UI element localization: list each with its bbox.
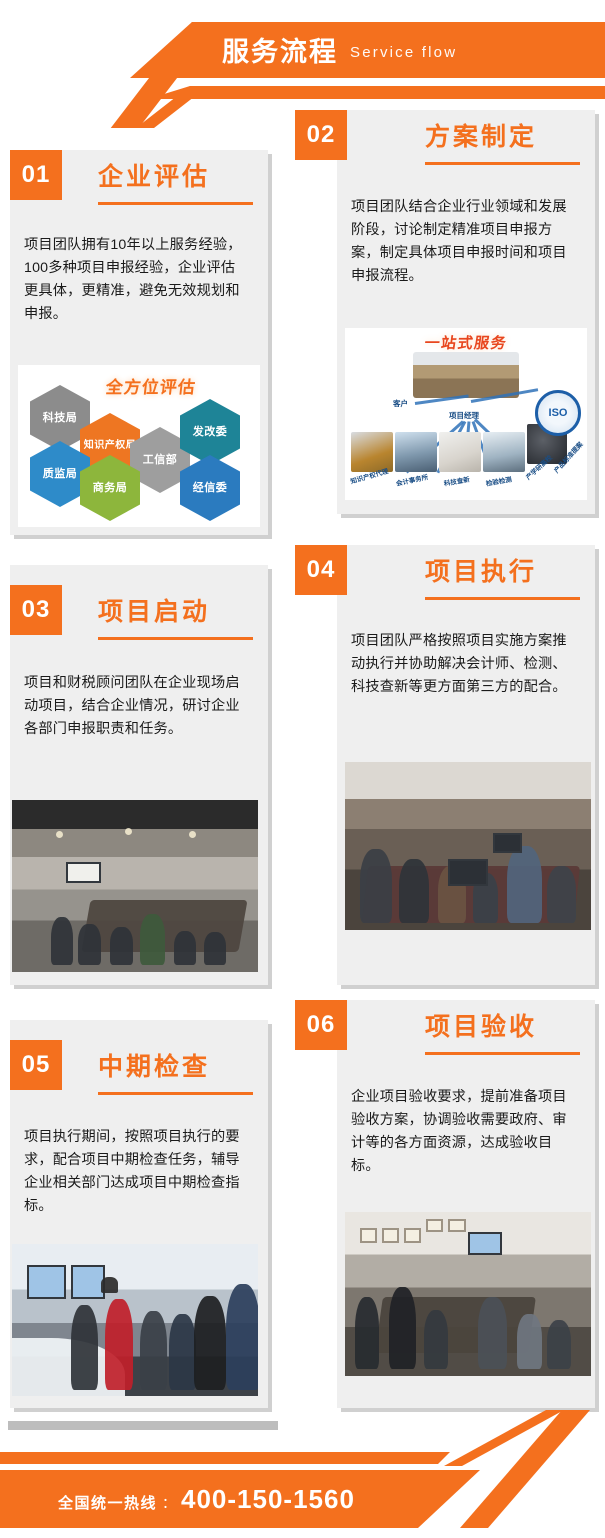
person — [140, 1311, 167, 1390]
person — [51, 917, 73, 965]
wall-certificate — [404, 1228, 421, 1243]
ceiling-light — [189, 831, 196, 838]
oss-thumb-accounting — [395, 432, 437, 472]
person — [399, 859, 429, 923]
laptop — [493, 833, 523, 853]
person — [547, 866, 577, 923]
card-photo-06 — [345, 1212, 591, 1376]
person — [389, 1287, 416, 1369]
card-title-05: 中期检查 — [98, 1055, 210, 1080]
display-screen — [27, 1265, 66, 1298]
person — [78, 924, 100, 965]
card-number-badge-01: 01 — [10, 150, 62, 200]
hexagon-label: 质监局 — [43, 468, 78, 481]
hexagon-label: 发改委 — [193, 426, 228, 439]
person — [355, 1297, 380, 1369]
card-number-badge-04: 04 — [295, 545, 347, 595]
hotline-group: 全国统一热线 ： 400-150-1560 — [58, 1484, 355, 1515]
card-photo-04 — [345, 762, 591, 930]
card-title-01: 企业评估 — [98, 165, 210, 190]
person — [169, 1314, 196, 1390]
card-body-02: 项目团队结合企业行业领域和发展阶段，讨论制定精准项目申报方案，制定具体项目申报时… — [351, 196, 573, 288]
card-number-badge-02: 02 — [295, 110, 347, 160]
page-title-cn: 服务流程 — [222, 39, 338, 66]
card-body-03: 项目和财税顾问团队在企业现场启动项目，结合企业情况，研讨企业各部门申报职责和任务… — [24, 672, 246, 741]
oss-center-photo — [413, 352, 519, 398]
card-title-rule-05 — [98, 1092, 253, 1095]
page-header: 服务流程 Service flow — [0, 0, 605, 128]
card-title-03: 项目启动 — [98, 600, 210, 625]
person — [517, 1314, 542, 1370]
footer-stripe — [0, 1452, 450, 1464]
hexagon-label: 科技局 — [43, 412, 78, 425]
person — [204, 932, 226, 965]
oss-label-accounting: 会计事务所 — [395, 471, 429, 488]
person — [140, 914, 165, 966]
hexagon-label: 知识产权局 — [84, 440, 137, 452]
person — [360, 849, 392, 923]
page-footer: 全国统一热线 ： 400-150-1560 — [0, 1410, 605, 1538]
card-number-badge-05: 05 — [10, 1040, 62, 1090]
one-stop-service-title: 一站式服务 — [345, 332, 587, 353]
page-title-en: Service flow — [350, 45, 457, 60]
oss-label-tech-search: 科技查新 — [443, 473, 470, 487]
whiteboard — [66, 862, 100, 883]
card-body-06: 企业项目验收要求，提前准备项目验收方案，协调验收需要政府、审计等的各方面资源，达… — [351, 1086, 573, 1178]
photo-content-04 — [345, 762, 591, 930]
person — [547, 1320, 572, 1369]
card-title-rule-06 — [425, 1052, 580, 1055]
person — [424, 1310, 449, 1369]
wall-certificate — [382, 1228, 399, 1243]
oss-node-customer: 客户 — [393, 398, 408, 409]
ceiling-light — [125, 828, 132, 835]
card-title-04: 项目执行 — [425, 560, 537, 585]
hexagon-diagram-01: 全方位评估 科技局 知识产权局 质监局 工信部 商务局 发改委 经信委 — [18, 365, 260, 527]
oss-label-inspection: 检验检测 — [485, 473, 512, 487]
wall-certificate — [426, 1219, 443, 1232]
hexagon-label: 经信委 — [193, 482, 228, 495]
hexagon-label: 商务局 — [93, 482, 128, 495]
card-photo-05 — [12, 1244, 258, 1396]
one-stop-service-diagram-02: 一站式服务 客户 项目经理 ISO 知识产权代理 会计事务所 科技查新 检验检测… — [345, 328, 587, 500]
person — [226, 1284, 258, 1390]
card-body-04: 项目团队严格按照项目实施方案推动执行并协助解决会计师、检测、科技查新等更方面第三… — [351, 630, 573, 699]
card-body-05: 项目执行期间，按照项目执行的要求，配合项目中期检查任务，辅导企业相关部门达成项目… — [24, 1126, 246, 1218]
person — [194, 1296, 226, 1390]
card-number-badge-03: 03 — [10, 585, 62, 635]
person — [110, 927, 132, 965]
hotline-colon: ： — [159, 1493, 179, 1513]
hexagon-diagram-title: 全方位评估 — [105, 373, 198, 398]
card-title-02: 方案制定 — [425, 125, 537, 150]
projector-screen — [468, 1232, 502, 1255]
person — [105, 1299, 132, 1390]
card-title-rule-01 — [98, 202, 253, 205]
photo-content-06 — [345, 1212, 591, 1376]
person — [101, 1277, 118, 1292]
oss-thumb-tech-search — [439, 432, 481, 472]
hotline-label: 全国统一热线 — [58, 1492, 157, 1513]
wall-certificate — [360, 1228, 377, 1243]
card-title-rule-04 — [425, 597, 580, 600]
oss-thumb-inspection — [483, 432, 525, 472]
ceiling-light — [56, 831, 63, 838]
infographic-page: 服务流程 Service flow 01 企业评估 项目团队拥有10年以上服务经… — [0, 0, 605, 1538]
hexagon-label: 工信部 — [143, 454, 178, 467]
person — [71, 1305, 98, 1390]
hotline-phone[interactable]: 400-150-1560 — [181, 1484, 355, 1515]
footer-band-diagonal-tail — [410, 1410, 590, 1528]
person — [507, 846, 541, 923]
card-title-rule-03 — [98, 637, 253, 640]
photo-content-03 — [12, 800, 258, 972]
wall-certificate — [448, 1219, 465, 1232]
card-title-rule-02 — [425, 162, 580, 165]
card-body-01: 项目团队拥有10年以上服务经验，100多种项目申报经验，企业评估更具体，更精准，… — [24, 234, 246, 326]
oss-certification-seal: ISO — [535, 390, 581, 436]
card-photo-03 — [12, 800, 258, 972]
person — [478, 1297, 508, 1369]
photo-content-05 — [12, 1244, 258, 1396]
laptop — [448, 859, 487, 886]
person — [174, 931, 196, 965]
header-title-group: 服务流程 Service flow — [222, 28, 457, 76]
card-number-badge-06: 06 — [295, 1000, 347, 1050]
card-title-06: 项目验收 — [425, 1015, 537, 1040]
header-stripe — [148, 86, 605, 99]
